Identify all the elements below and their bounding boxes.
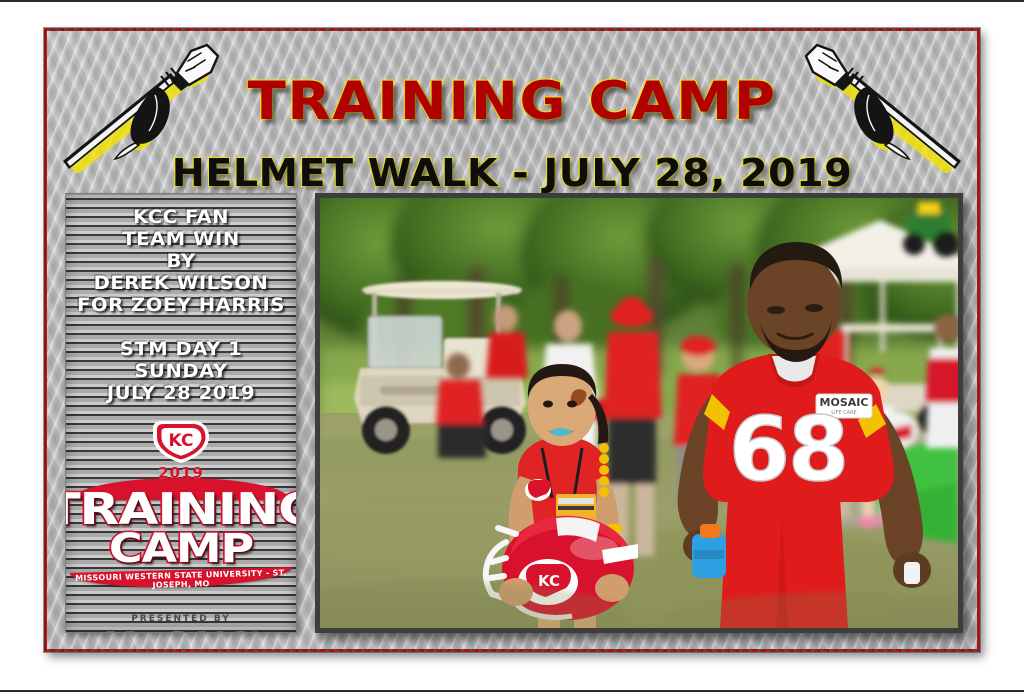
letterboard-line: SUNDAY (65, 360, 297, 382)
camp-logo-word-camp: CAMP (65, 526, 297, 572)
sponsor-block: PRESENTED BY M (66, 614, 296, 633)
page-subtitle: HELMET WALK - JULY 28, 2019 (44, 151, 980, 195)
mosaic-letter-m: M (103, 625, 136, 633)
poster-page: TRAINING CAMP HELMET WALK - JULY 28, 201… (0, 0, 1024, 692)
trademark-symbol: ™ (251, 629, 259, 633)
training-camp-photo: 70 (320, 198, 958, 628)
letterboard-line: KCC FAN (65, 206, 297, 228)
page-title: TRAINING CAMP (44, 71, 980, 132)
poster-panel: TRAINING CAMP HELMET WALK - JULY 28, 201… (44, 28, 980, 652)
mosaic-tiles-icon (137, 632, 164, 634)
svg-text:KC: KC (169, 431, 194, 451)
letterboard-panel: KCC FAN TEAM WIN BY DEREK WILSON FOR ZOE… (65, 193, 297, 633)
letterboard-line: STM DAY 1 (65, 338, 297, 360)
letterboard-line: BY (65, 250, 297, 272)
training-camp-logo: KC 2019 TRAINING CAMP MISSOURI WESTERN S… (66, 418, 296, 608)
presented-by-label: PRESENTED BY (66, 614, 296, 624)
letterboard-spacer (66, 316, 296, 338)
svg-text:68: 68 (729, 398, 847, 501)
poster-header: TRAINING CAMP HELMET WALK - JULY 28, 201… (47, 31, 977, 181)
photo-frame: 70 (315, 193, 963, 633)
letterboard-line: FOR ZOEY HARRIS (65, 294, 297, 316)
letterboard-line: TEAM WIN (65, 228, 297, 250)
letterboard-line: JULY 28 2019 (65, 382, 297, 404)
mosaic-logo: M (66, 625, 296, 633)
mosaic-letters-saic: SAIC (165, 625, 249, 633)
letterboard-line: DEREK WILSON (65, 272, 297, 294)
